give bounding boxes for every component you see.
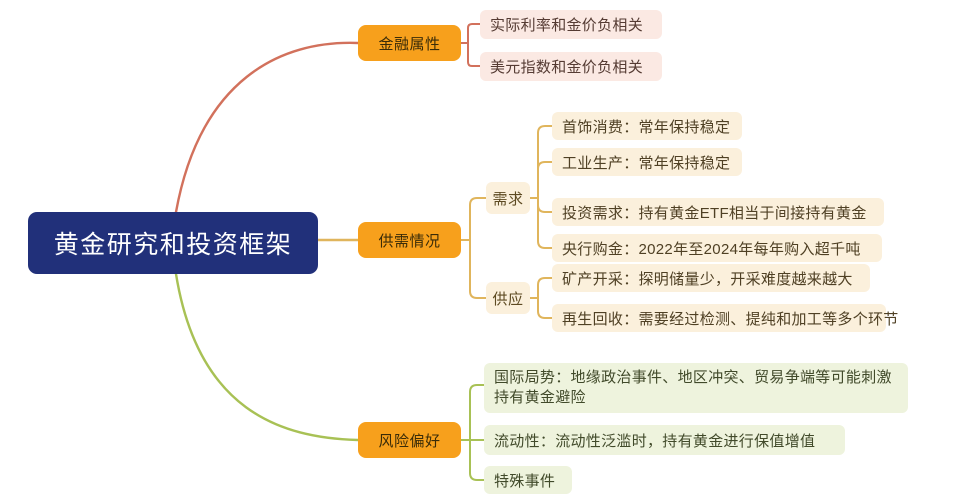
link-root-financial (176, 43, 358, 212)
root-node[interactable]: 黄金研究和投资框架 (28, 212, 318, 274)
branch-label-risk-appetite: 风险偏好 (378, 430, 440, 451)
leaf-node-special-events[interactable]: 特殊事件 (484, 466, 572, 494)
branch-node-risk-appetite[interactable]: 风险偏好 (358, 422, 461, 458)
link-supply-bracket (530, 278, 552, 318)
leaf-label: 工业生产：常年保持稳定 (562, 152, 730, 173)
leaf-node-real-interest-rate[interactable]: 实际利率和金价负相关 (480, 10, 662, 39)
leaf-label: 国际局势：地缘政治事件、地区冲突、贸易争端等可能刺激持有黄金避险 (494, 368, 898, 409)
root-node-label: 黄金研究和投资框架 (54, 225, 293, 261)
link-root-risk (176, 274, 358, 440)
link-risk-bracket (461, 385, 484, 480)
leaf-label: 实际利率和金价负相关 (490, 14, 643, 35)
leaf-label: 投资需求：持有黄金ETF相当于间接持有黄金 (562, 202, 867, 223)
leaf-label: 再生回收：需要经过检测、提纯和加工等多个环节 (562, 308, 899, 329)
leaf-node-liquidity[interactable]: 流动性：流动性泛滥时，持有黄金进行保值增值 (484, 425, 845, 455)
subbranch-label-demand: 需求 (493, 188, 524, 209)
link-sd-bracket (461, 198, 486, 298)
leaf-label: 首饰消费：常年保持稳定 (562, 116, 730, 137)
branch-label-financial: 金融属性 (378, 33, 440, 54)
subbranch-node-supply[interactable]: 供应 (486, 282, 530, 314)
leaf-node-investment-demand[interactable]: 投资需求：持有黄金ETF相当于间接持有黄金 (552, 198, 884, 226)
leaf-node-jewelry-consumption[interactable]: 首饰消费：常年保持稳定 (552, 112, 742, 140)
branch-node-financial[interactable]: 金融属性 (358, 25, 461, 61)
subbranch-node-demand[interactable]: 需求 (486, 182, 530, 214)
leaf-node-industrial-production[interactable]: 工业生产：常年保持稳定 (552, 148, 742, 176)
mindmap-canvas: 黄金研究和投资框架 金融属性 实际利率和金价负相关 美元指数和金价负相关 供需情… (0, 0, 960, 500)
link-financial-bracket (461, 24, 480, 66)
subbranch-label-supply: 供应 (493, 288, 524, 309)
leaf-node-mining[interactable]: 矿产开采：探明储量少，开采难度越来越大 (552, 264, 870, 292)
leaf-label: 央行购金：2022年至2024年每年购入超千吨 (562, 238, 861, 259)
branch-node-supply-demand[interactable]: 供需情况 (358, 222, 461, 258)
leaf-label: 特殊事件 (494, 470, 555, 491)
leaf-label: 美元指数和金价负相关 (490, 56, 643, 77)
link-demand-bracket (530, 126, 552, 248)
leaf-node-recycling[interactable]: 再生回收：需要经过检测、提纯和加工等多个环节 (552, 304, 886, 332)
leaf-node-dollar-index[interactable]: 美元指数和金价负相关 (480, 52, 662, 81)
leaf-node-international-situation[interactable]: 国际局势：地缘政治事件、地区冲突、贸易争端等可能刺激持有黄金避险 (484, 363, 908, 413)
branch-label-supply-demand: 供需情况 (378, 230, 440, 251)
leaf-label: 矿产开采：探明储量少，开采难度越来越大 (562, 268, 853, 289)
leaf-node-central-bank-purchases[interactable]: 央行购金：2022年至2024年每年购入超千吨 (552, 234, 882, 262)
leaf-label: 流动性：流动性泛滥时，持有黄金进行保值增值 (494, 430, 815, 451)
